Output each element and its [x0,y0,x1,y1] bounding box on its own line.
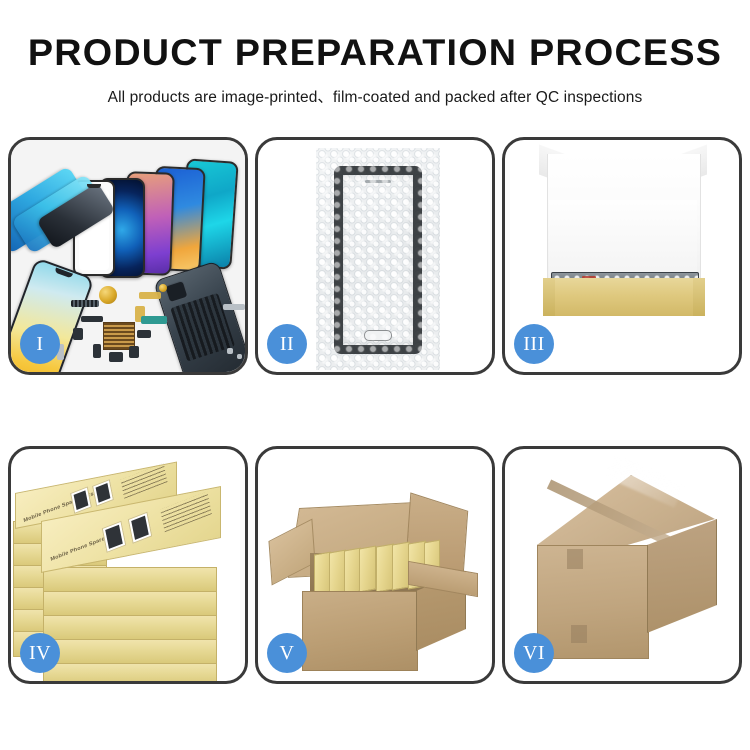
page-title: PRODUCT PREPARATION PROCESS [0,34,750,71]
stacked-box-front-5 [43,663,217,681]
speaker-mesh-part [71,300,99,307]
carton-tab-upper [567,549,583,569]
box-tray-lip-left [543,278,555,316]
process-panel-3[interactable]: III [502,137,742,375]
small-connector-2 [73,328,83,340]
box-tray-yellow [543,278,705,316]
box-print-specs-1 [120,463,167,499]
battery-connector [109,352,123,362]
panel-4-badge: IV [20,633,60,673]
box-print-screen-1 [70,486,92,514]
box-tray-lip-right [693,278,705,316]
carton-front-face [302,591,418,671]
stacked-box-front-1 [43,567,217,593]
tweezers-tool [223,304,245,310]
sealed-carton-front [537,545,649,659]
process-panel-1[interactable]: I [8,137,248,375]
box-print-screen-2 [92,479,114,507]
stacked-box-front-2 [43,591,217,617]
page-subtitle: All products are image-printed、film-coat… [0,85,750,107]
small-connector-4 [137,330,151,338]
process-panel-2[interactable]: II [255,137,495,375]
box-print-screen-3 [102,521,127,553]
antenna-flex-part [141,316,167,324]
panel-3-badge: III [514,324,554,364]
panel-5-badge: V [267,633,307,673]
carton-tab-lower [571,625,587,643]
panel-2-badge: II [267,324,307,364]
stacked-box-front-4 [43,639,217,665]
box-print-specs-2 [160,491,212,532]
camera-module [164,280,189,303]
stacked-box-front-3 [43,615,217,641]
box-foam-lining [549,200,697,278]
home-button [364,330,392,341]
screw-part-2 [237,354,242,359]
bubble-wrap-sheet [316,148,440,370]
process-panel-4[interactable]: Mobile Phone Spare Parts Mobile Phone Sp… [8,446,248,684]
small-connector-1 [81,316,103,322]
process-panel-5[interactable]: V [255,446,495,684]
screw-part-1 [227,348,233,354]
process-panel-6[interactable]: VI [502,446,742,684]
page-header: PRODUCT PREPARATION PROCESS All products… [0,0,750,107]
gold-screw-part [159,284,167,292]
gold-coil-part [99,286,117,304]
panel-1-badge: I [20,324,60,364]
earpiece-slot [365,180,391,183]
panel-6-badge: VI [514,633,554,673]
process-panel-grid: I II III [8,137,742,684]
inner-box-4 [359,546,376,593]
glass-notch [87,184,101,188]
flex-cable-part-1 [139,292,161,299]
phone-notch [54,268,73,279]
wrapped-phone-screen [334,166,422,354]
box-print-screen-4 [128,512,153,544]
vibration-motor [129,346,139,358]
small-connector-3 [93,344,101,358]
